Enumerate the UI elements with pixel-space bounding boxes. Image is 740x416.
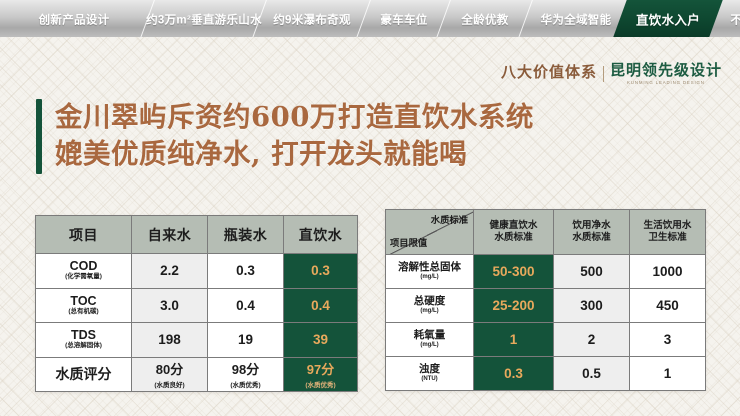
cell-healthy: 25-200	[474, 289, 554, 323]
table-row: 溶解性总固体 (mg/L) 50-300 500 1000	[386, 255, 706, 289]
table-header-row: 项目 自来水 瓶装水 直饮水	[36, 216, 358, 254]
cell-bottled: 98分 (水质优秀)	[208, 357, 284, 392]
table-row: 水质评分 80分 (水质良好) 98分 (水质优秀) 97分 (水质优秀)	[36, 357, 358, 392]
cell-direct: 0.3	[284, 254, 358, 289]
nav-tab-label: 约9米瀑布奇观	[273, 11, 351, 27]
row-label-oxygen: 耗氧量 (mg/L)	[386, 323, 474, 357]
cell-domestic: 3	[630, 323, 706, 357]
col-header-domestic: 生活饮用水 卫生标准	[630, 210, 706, 255]
nav-tab-3[interactable]: 豪车车位	[364, 0, 444, 37]
row-label-unit: (NTU)	[386, 376, 473, 383]
row-label-sub: (总有机碳)	[36, 309, 131, 316]
cell-domestic: 1	[630, 357, 706, 391]
col-header-bottled-water: 瓶装水	[208, 216, 284, 254]
row-label-hardness: 总硬度 (mg/L)	[386, 289, 474, 323]
cell-healthy: 50-300	[474, 255, 554, 289]
nav-tab-label: 直饮水入户	[636, 10, 700, 29]
table-row: 总硬度 (mg/L) 25-200 300 450	[386, 289, 706, 323]
header-line-2: 卫生标准	[648, 232, 686, 243]
row-label-main: TOC	[70, 294, 96, 308]
brand-right-subtext: KUNMING LEADING DESIGN	[627, 81, 705, 85]
nav-tab-5[interactable]: 华为全域智能	[526, 0, 626, 37]
header-line-1: 生活饮用水	[644, 220, 692, 231]
table-row: TDS (总溶解固体) 198 19 39	[36, 323, 358, 358]
cell-value: 97分	[307, 362, 334, 377]
brand-left-text: 八大价值体系	[501, 65, 597, 80]
corner-bottom-left-label: 项目限值	[390, 238, 427, 250]
cell-purified: 300	[554, 289, 630, 323]
cell-healthy: 1	[474, 323, 554, 357]
table-row: COD (化学需氧量) 2.2 0.3 0.3	[36, 254, 358, 289]
row-label-sub: (化学需氧量)	[36, 274, 131, 281]
nav-tab-label: 全龄优教	[461, 11, 508, 27]
headline-text: 金川翠屿斥资约600万打造直饮水系统 媲美优质纯净水, 打开龙头就能喝	[55, 99, 534, 174]
nav-tab-4[interactable]: 全龄优教	[444, 0, 526, 37]
nav-tab-1[interactable]: 约3万m²垂直游乐山水	[148, 0, 260, 37]
row-label-sub: (总溶解固体)	[36, 343, 131, 350]
cell-domestic: 450	[630, 289, 706, 323]
nav-tab-label: 创新产品设计	[39, 11, 110, 27]
header-line-1: 健康直饮水	[490, 220, 538, 231]
table-header-row: 水质标准 项目限值 健康直饮水 水质标准 饮用净水 水质标准 生活饮用水 卫生标…	[386, 210, 706, 255]
row-label-main: 水质评分	[56, 366, 112, 382]
header-line-1: 饮用净水	[572, 220, 610, 231]
row-label-unit: (mg/L)	[386, 274, 473, 281]
header-line-2: 水质标准	[572, 232, 610, 243]
cell-purified: 2	[554, 323, 630, 357]
header-line-2: 水质标准	[494, 232, 532, 243]
cell-direct: 0.4	[284, 288, 358, 323]
cell-bottled: 19	[208, 323, 284, 358]
cell-bottled: 0.3	[208, 254, 284, 289]
row-label-unit: (mg/L)	[386, 342, 473, 349]
nav-tab-label: 约3万m²垂直游乐山水	[146, 11, 262, 27]
col-header-healthy-direct: 健康直饮水 水质标准	[474, 210, 554, 255]
corner-top-right-label: 水质标准	[431, 215, 468, 227]
row-label-main: 总硬度	[414, 295, 446, 307]
col-header-purified: 饮用净水 水质标准	[554, 210, 630, 255]
row-label-main: COD	[70, 259, 98, 273]
headline-block: 金川翠屿斥资约600万打造直饮水系统 媲美优质纯净水, 打开龙头就能喝	[36, 99, 534, 174]
cell-tap: 198	[132, 323, 208, 358]
cell-domestic: 1000	[630, 255, 706, 289]
row-label-main: 溶解性总固体	[398, 261, 461, 273]
cell-direct: 39	[284, 323, 358, 358]
brand-lockup: 八大价值体系 昆明领先级设计 KUNMING LEADING DESIGN	[501, 63, 722, 86]
cell-tap: 3.0	[132, 288, 208, 323]
row-label-tds: 溶解性总固体 (mg/L)	[386, 255, 474, 289]
col-header-item: 项目	[36, 216, 132, 254]
brand-right-group: 昆明领先级设计 KUNMING LEADING DESIGN	[610, 63, 722, 86]
cell-purified: 0.5	[554, 357, 630, 391]
nav-tab-6-active[interactable]: 直饮水入户	[613, 0, 722, 37]
row-label-unit: (mg/L)	[386, 308, 473, 315]
standards-table-right: 水质标准 项目限值 健康直饮水 水质标准 饮用净水 水质标准 生活饮用水 卫生标…	[385, 209, 706, 391]
slide-canvas: 创新产品设计 约3万m²垂直游乐山水 约9米瀑布奇观 豪车车位 全龄优教 华为全…	[0, 0, 740, 416]
table-row: 浊度 (NTU) 0.3 0.5 1	[386, 357, 706, 391]
headline-accent-bar	[36, 99, 42, 174]
cell-sub: (水质优秀)	[208, 379, 283, 389]
nav-tab-label: 豪车车位	[380, 11, 427, 27]
row-label-cod: COD (化学需氧量)	[36, 254, 132, 289]
cell-sub: (水质良好)	[132, 379, 207, 389]
row-label-toc: TOC (总有机碳)	[36, 288, 132, 323]
row-label-main: TDS	[71, 328, 96, 342]
col-header-tap-water: 自来水	[132, 216, 208, 254]
nav-tab-2[interactable]: 约9米瀑布奇观	[260, 0, 364, 37]
cell-purified: 500	[554, 255, 630, 289]
nav-tab-0[interactable]: 创新产品设计	[0, 0, 148, 37]
nav-tab-7[interactable]: 不赚钱物业	[712, 0, 740, 37]
comparison-table-left: 项目 自来水 瓶装水 直饮水 COD (化学需氧量) 2.2 0.3 0.3 T…	[35, 215, 358, 392]
cell-tap: 80分 (水质良好)	[132, 357, 208, 392]
corner-diagonal-header: 水质标准 项目限值	[386, 210, 474, 255]
headline-line-2: 媲美优质纯净水, 打开龙头就能喝	[55, 136, 534, 173]
row-label-main: 耗氧量	[414, 329, 446, 341]
table-row: 耗氧量 (mg/L) 1 2 3	[386, 323, 706, 357]
top-nav-bar: 创新产品设计 约3万m²垂直游乐山水 约9米瀑布奇观 豪车车位 全龄优教 华为全…	[0, 0, 740, 37]
brand-right-text: 昆明领先级设计	[610, 63, 722, 78]
cell-value: 98分	[232, 362, 259, 377]
cell-bottled: 0.4	[208, 288, 284, 323]
cell-value: 80分	[156, 362, 183, 377]
row-label-tds: TDS (总溶解固体)	[36, 323, 132, 358]
headline-line-1: 金川翠屿斥资约600万打造直饮水系统	[55, 99, 534, 136]
row-label-main: 浊度	[419, 363, 440, 375]
cell-tap: 2.2	[132, 254, 208, 289]
table-row: TOC (总有机碳) 3.0 0.4 0.4	[36, 288, 358, 323]
cell-direct: 97分 (水质优秀)	[284, 357, 358, 392]
nav-tab-label: 不赚钱物业	[731, 11, 740, 27]
cell-healthy: 0.3	[474, 357, 554, 391]
brand-divider	[603, 66, 604, 82]
cell-sub: (水质优秀)	[284, 379, 357, 389]
nav-tab-label: 华为全域智能	[541, 11, 612, 27]
row-label-score: 水质评分	[36, 357, 132, 392]
col-header-direct-water: 直饮水	[284, 216, 358, 254]
row-label-turbidity: 浊度 (NTU)	[386, 357, 474, 391]
